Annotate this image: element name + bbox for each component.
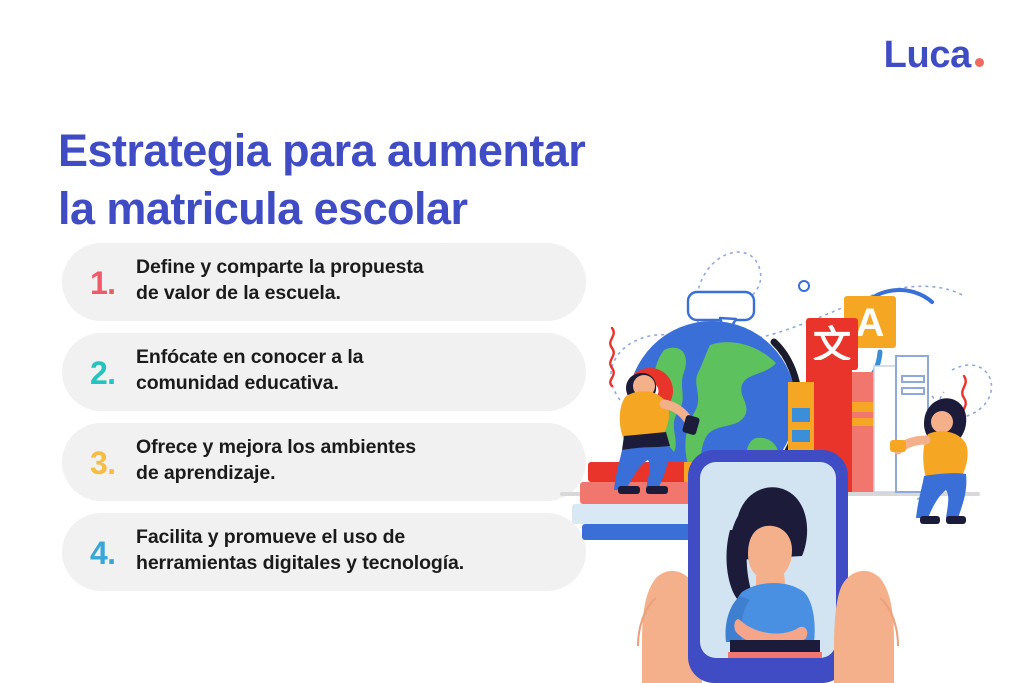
list-item: 1. Define y comparte la propuesta de val… <box>62 243 586 321</box>
list-item-line-1: Define y comparte la propuesta <box>136 255 424 281</box>
list-item-text: Enfócate en conocer a la comunidad educa… <box>136 345 363 396</box>
education-illustration: A 文 <box>560 200 1024 683</box>
list-item-number: 3. <box>90 447 136 479</box>
list-item-line-2: de aprendizaje. <box>136 461 416 487</box>
brand-logo: Luca <box>884 36 984 74</box>
smartphone <box>688 450 848 683</box>
svg-text:A: A <box>856 301 885 345</box>
list-item-line-1: Ofrece y mejora los ambientes <box>136 435 416 461</box>
list-item-text: Facilita y promueve el uso de herramient… <box>136 525 464 576</box>
strategy-list: 1. Define y comparte la propuesta de val… <box>62 243 586 603</box>
list-item-number: 1. <box>90 267 136 299</box>
list-item-line-1: Enfócate en conocer a la <box>136 345 363 371</box>
list-item-line-2: comunidad educativa. <box>136 371 363 397</box>
brand-dot-icon <box>975 58 984 67</box>
list-item-line-1: Facilita y promueve el uso de <box>136 525 464 551</box>
page-title-line-1: Estrategia para aumentar <box>58 122 718 180</box>
list-item-text: Ofrece y mejora los ambientes de aprendi… <box>136 435 416 486</box>
list-item: 2. Enfócate en conocer a la comunidad ed… <box>62 333 586 411</box>
infographic-poster: Luca Estrategia para aumentar la matricu… <box>0 0 1024 683</box>
brand-wordmark: Luca <box>884 36 971 74</box>
list-item-text: Define y comparte la propuesta de valor … <box>136 255 424 306</box>
decorative-circle <box>799 281 809 291</box>
list-item-line-2: herramientas digitales y tecnología. <box>136 551 464 577</box>
squiggle-icon <box>610 328 613 386</box>
list-item-number: 4. <box>90 537 136 569</box>
list-item: 4. Facilita y promueve el uso de herrami… <box>62 513 586 591</box>
list-item-line-2: de valor de la escuela. <box>136 281 424 307</box>
list-item: 3. Ofrece y mejora los ambientes de apre… <box>62 423 586 501</box>
list-item-number: 2. <box>90 357 136 389</box>
right-hand <box>834 571 894 683</box>
